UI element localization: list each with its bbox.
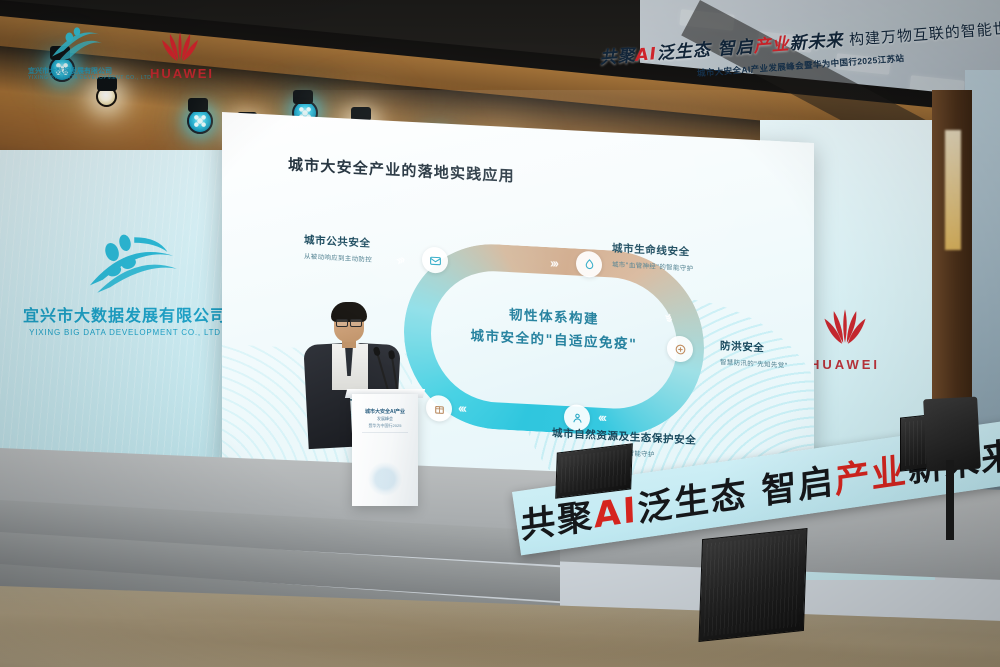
yixing-name-en: YIXING BIG DATA DEVELOPMENT CO., LTD xyxy=(20,328,230,337)
loop-chevron-2: ››› xyxy=(550,255,557,270)
label-public-safety-title: 城市公共安全 xyxy=(304,232,372,251)
floor-part-0: 共聚 xyxy=(520,496,595,547)
label-public-safety: 城市公共安全 从被动响应到主动防控 xyxy=(304,232,372,264)
speaker-stand xyxy=(946,460,954,540)
label-flood-safety-title: 防洪安全 xyxy=(720,338,788,357)
yixing-swoosh-icon xyxy=(69,228,181,302)
yixing-wall-logo: 宜兴市大数据发展有限公司 YIXING BIG DATA DEVELOPMENT… xyxy=(20,228,230,348)
yixing-swoosh-icon xyxy=(48,22,106,68)
pipeline-icon xyxy=(583,257,596,271)
floor-part-2: 泛生态 xyxy=(637,474,748,530)
floor-part-1: AI xyxy=(593,490,638,536)
header-part-0: 共聚 xyxy=(599,46,636,69)
header-part-6: 构建万物互联的智能世界 xyxy=(843,18,1000,49)
header-part-5: 新未来 xyxy=(789,30,844,54)
podium-line3: 暨华为中国行2025 xyxy=(352,423,418,429)
huawei-flower-icon xyxy=(155,28,205,66)
node-lifeline-safety xyxy=(576,251,602,278)
floor-part-4: 产业 xyxy=(834,451,909,502)
podium-line2: 发展峰会 xyxy=(352,416,418,422)
loop-chevron-5: ››› xyxy=(460,402,467,417)
podium-emblem-icon xyxy=(368,462,402,496)
water-drop-icon xyxy=(674,342,687,356)
yixing-name-cn: 宜兴市大数据发展有限公司 xyxy=(20,302,230,326)
huawei-flower-icon xyxy=(155,28,205,66)
slide-title: 城市大安全产业的落地实践应用 xyxy=(288,153,515,186)
speaker-podium: 城市大安全AI产业 发展峰会 暨华为中国行2025 xyxy=(352,394,418,506)
yixing-swoosh-icon xyxy=(48,22,106,68)
person-leaf-icon xyxy=(571,411,584,425)
header-part-2: 泛生态 xyxy=(656,40,711,64)
mail-shield-icon xyxy=(429,253,442,267)
loop-chevron-1: ››› xyxy=(393,252,405,268)
node-public-safety xyxy=(422,246,448,273)
label-flood-safety: 防洪安全 智慧防汛的"先知先觉" xyxy=(720,338,788,370)
header-part-3: 智启 xyxy=(710,37,754,60)
cyan-led-par-light xyxy=(187,108,213,134)
header-part-1: AI xyxy=(635,44,658,66)
huawei-flower-icon xyxy=(817,305,873,349)
node-production-safety xyxy=(426,395,452,422)
floor-part-3: 智启 xyxy=(747,461,836,514)
stage-monitor-left xyxy=(555,443,633,499)
node-flood-safety xyxy=(667,335,693,362)
label-lifeline-safety: 城市生命线安全 城市"血管神经"的智能守护 xyxy=(612,240,693,272)
loop-chevron-4: ››› xyxy=(600,412,607,427)
white-moving-head-spot xyxy=(96,86,117,107)
header-part-4: 产业 xyxy=(753,34,790,57)
stage-monitor-center xyxy=(698,528,807,642)
podium-line1: 城市大安全AI产业 xyxy=(352,408,418,415)
ceiling-huawei-word: HUAWEI xyxy=(150,66,214,81)
label-lifeline-safety-title: 城市生命线安全 xyxy=(612,240,693,259)
window-light xyxy=(945,130,961,250)
label-public-safety-sub: 从被动响应到主动防控 xyxy=(304,250,372,264)
factory-icon xyxy=(433,402,446,416)
conference-stage-photo: 宜兴市大数据发展有限公司 YIXING BIG DATA DEVELOPMENT… xyxy=(0,0,1000,667)
eyeglasses-icon xyxy=(336,319,362,325)
